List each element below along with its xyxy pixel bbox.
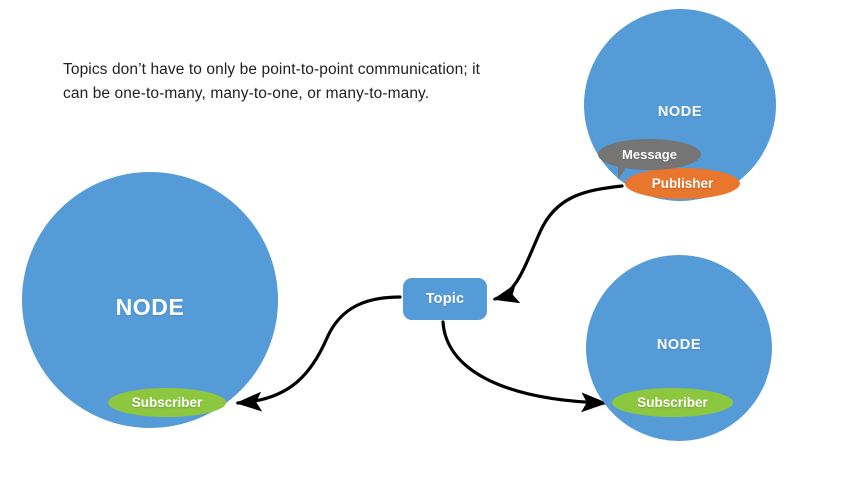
arrow-publisher-to-topic <box>495 186 622 299</box>
caption-text: Topics don’t have to only be point-to-po… <box>63 58 483 106</box>
node-bottom-right-label: NODE <box>586 337 772 353</box>
publisher-pill[interactable]: Publisher <box>625 168 740 199</box>
topic-box[interactable]: Topic <box>403 278 487 320</box>
message-bubble[interactable]: Message <box>598 139 701 170</box>
diagram-canvas: Topics don’t have to only be point-to-po… <box>0 0 854 480</box>
subscriber-pill-left[interactable]: Subscriber <box>108 388 226 417</box>
node-left-label: NODE <box>22 294 278 321</box>
subscriber-pill-bottom[interactable]: Subscriber <box>612 388 733 417</box>
arrow-topic-to-subscriber-bottom <box>443 322 605 403</box>
node-top-right-label: NODE <box>584 104 776 120</box>
